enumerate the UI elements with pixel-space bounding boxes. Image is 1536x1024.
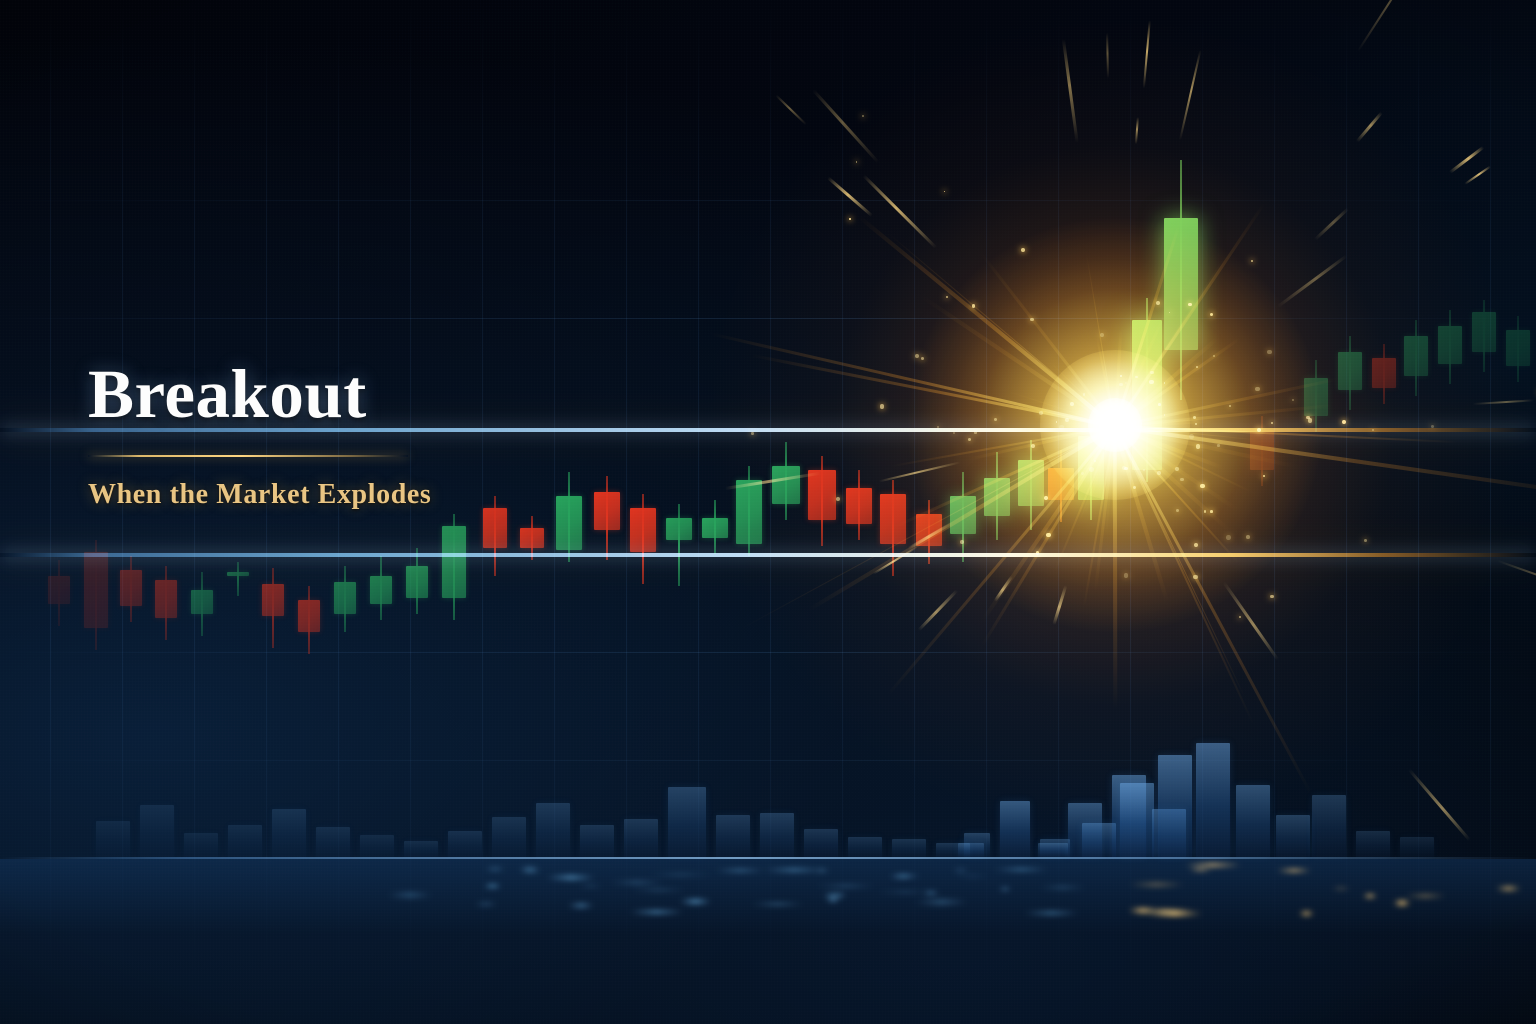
spark-streak <box>1356 111 1383 142</box>
candle-body <box>1132 320 1162 470</box>
spark <box>1189 434 1194 439</box>
candlestick-up <box>666 504 692 586</box>
explosion-ray <box>921 295 1116 428</box>
volume-bar <box>804 829 838 857</box>
spark <box>1210 510 1213 513</box>
spark <box>1176 509 1180 513</box>
spark <box>1193 416 1196 419</box>
spark <box>1431 425 1434 428</box>
candle-body <box>120 570 142 606</box>
grid-line-upper-grid <box>0 318 1536 319</box>
title-divider <box>88 455 408 457</box>
spark <box>1246 535 1250 539</box>
candle-body <box>520 528 544 548</box>
spark <box>1267 350 1271 354</box>
candle-body <box>406 566 428 598</box>
candlestick-down <box>1048 450 1074 522</box>
spark <box>1083 393 1085 395</box>
page-subtitle: When the Market Explodes <box>88 479 608 511</box>
volume-bar <box>272 809 306 857</box>
candlestick-down <box>1250 416 1274 486</box>
candlestick-up <box>1506 316 1530 382</box>
candle-body <box>1372 358 1396 388</box>
explosion-ray <box>1086 254 1116 426</box>
spark-streak <box>1062 39 1078 142</box>
spark <box>1342 420 1346 424</box>
floor-line <box>0 857 1536 859</box>
candlestick-down <box>298 586 320 654</box>
candle-body <box>1438 326 1462 364</box>
spark-streak <box>1407 769 1470 842</box>
candlestick-up <box>702 500 728 554</box>
candle-body <box>808 470 836 520</box>
candle-body <box>984 478 1010 516</box>
explosion-ray <box>1114 425 1223 469</box>
page-title: Breakout <box>88 360 608 429</box>
volume-bar <box>448 831 482 857</box>
floor-sheen <box>0 859 1536 1024</box>
spark <box>1133 486 1136 489</box>
explosion-ray <box>1113 427 1117 709</box>
spark <box>1195 423 1197 425</box>
spark-streak <box>1449 146 1484 174</box>
candlestick-up <box>1304 360 1328 432</box>
volume-bar <box>1312 795 1346 857</box>
candle-body <box>1164 218 1198 350</box>
candlestick-up <box>191 572 213 636</box>
spark <box>1030 318 1033 321</box>
spark <box>862 115 864 117</box>
volume-bar <box>140 805 174 857</box>
spark <box>994 418 997 421</box>
volume-bar <box>668 787 706 857</box>
candlestick-up <box>984 452 1010 540</box>
spark <box>1239 616 1241 618</box>
spark <box>1194 543 1198 547</box>
volume-bar <box>360 835 394 857</box>
spark <box>1180 478 1183 481</box>
explosion-ray <box>857 214 1116 428</box>
spark-streak <box>1465 166 1492 186</box>
candle-body <box>227 572 249 576</box>
spark <box>1059 425 1063 429</box>
explosion-ray <box>1114 426 1116 525</box>
candle-body <box>84 552 108 628</box>
candle-body <box>1250 430 1274 470</box>
spark-streak <box>1179 50 1201 140</box>
candlestick-up <box>1438 310 1462 384</box>
spark <box>751 432 753 434</box>
volume-bar <box>492 817 526 857</box>
candlestick-down <box>808 456 836 546</box>
spark <box>968 438 971 441</box>
explosion-ray <box>887 232 1115 426</box>
candle-body <box>1048 468 1074 500</box>
spark <box>1255 387 1260 392</box>
explosion-ray <box>711 333 1116 428</box>
volume-bar <box>1356 831 1390 857</box>
volume-bar <box>1120 783 1154 857</box>
candlestick-up <box>1404 320 1428 396</box>
spark <box>944 191 946 193</box>
candlestick-down <box>520 516 544 560</box>
candlestick-up <box>1338 336 1362 410</box>
candle-body <box>630 508 656 552</box>
candlestick-down <box>84 540 108 650</box>
candlestick-down <box>1372 344 1396 404</box>
candlestick-up <box>442 514 466 620</box>
candlestick-up <box>950 472 976 562</box>
spark <box>1175 467 1179 471</box>
spark <box>1124 573 1129 578</box>
explosion-ray <box>1050 362 1115 426</box>
grid-line-midline <box>0 652 1536 653</box>
spark <box>1204 510 1206 512</box>
spark <box>1039 411 1043 415</box>
candle-body <box>155 580 177 618</box>
candlestick-down <box>48 560 70 626</box>
spark <box>1070 402 1074 406</box>
spark <box>849 218 851 220</box>
spark-streak <box>827 176 873 217</box>
spark <box>1292 399 1294 401</box>
candlestick-down <box>916 500 942 564</box>
explosion-ray <box>1115 425 1457 444</box>
spark <box>1056 421 1058 423</box>
spark <box>1372 429 1374 431</box>
candlestick-up <box>1472 300 1496 372</box>
spark-streak <box>863 175 937 249</box>
spark <box>915 354 919 358</box>
candlestick-up <box>370 556 392 620</box>
volume-bar <box>892 839 926 857</box>
candlestick-up <box>1018 440 1044 530</box>
spark-streak <box>1106 33 1109 78</box>
spark <box>946 296 948 298</box>
candlestick-down <box>262 568 284 648</box>
spark <box>836 497 840 501</box>
candle-body <box>950 496 976 534</box>
spark-streak <box>994 575 1013 601</box>
candle-body <box>916 514 942 546</box>
candlestick-down <box>880 480 906 576</box>
candlestick-down <box>630 494 656 584</box>
candlestick-up <box>334 566 356 632</box>
explosion-ray <box>751 354 1115 428</box>
spark-streak <box>917 590 958 632</box>
candle-body <box>846 488 872 524</box>
spark <box>1124 467 1128 471</box>
volume-bar <box>1236 785 1270 857</box>
spark <box>1021 248 1025 252</box>
volume-bar <box>1276 815 1310 857</box>
spark <box>937 426 939 428</box>
spark <box>1364 539 1367 542</box>
spark <box>1200 484 1205 489</box>
spark <box>1229 405 1231 407</box>
spark <box>1065 418 1069 422</box>
spark <box>1213 355 1215 357</box>
spark <box>880 404 885 409</box>
spark <box>1196 444 1200 448</box>
volume-bar <box>624 819 658 857</box>
candle-body <box>370 576 392 604</box>
spark <box>1193 575 1198 580</box>
candle-body <box>772 466 800 504</box>
spark <box>856 161 858 163</box>
explosion-ray <box>1111 426 1116 520</box>
spark <box>1210 313 1213 316</box>
candle-body <box>1078 436 1104 500</box>
candle-body <box>736 480 762 544</box>
explosion-ray <box>1115 418 1215 428</box>
candlestick-up <box>406 548 428 614</box>
spark <box>1120 375 1122 377</box>
volume-bar <box>96 821 130 857</box>
candlestick-up <box>772 442 800 520</box>
explosion-ray <box>1114 330 1122 427</box>
volume-bar <box>1400 837 1434 857</box>
candle-body <box>1338 352 1362 390</box>
headline-block: Breakout When the Market Explodes <box>88 360 608 511</box>
candle-body <box>1506 330 1530 366</box>
volume-bar <box>1196 743 1230 857</box>
support-beam <box>0 553 1536 557</box>
candlestick-up <box>1078 420 1104 520</box>
volume-bar <box>1068 803 1102 857</box>
spark <box>953 432 955 434</box>
spark-streak <box>1498 560 1536 591</box>
volume-bar <box>1038 843 1068 857</box>
candlestick-up <box>736 466 762 556</box>
candle-body <box>880 494 906 544</box>
spark-streak <box>1473 400 1534 405</box>
candlestick-down <box>846 470 872 540</box>
spark-streak <box>812 90 879 164</box>
candle-wick <box>237 562 239 596</box>
volume-bar <box>404 841 438 857</box>
spark-streak <box>1357 0 1414 51</box>
spark-streak <box>1223 582 1279 661</box>
candle-body <box>666 518 692 540</box>
candlestick-down <box>120 556 142 622</box>
spark <box>1217 444 1220 447</box>
spark <box>972 304 975 307</box>
volume-bar <box>848 837 882 857</box>
candle-body <box>48 576 70 604</box>
spark <box>1119 383 1122 386</box>
spark-streak <box>1053 585 1068 625</box>
candle-body <box>262 584 284 616</box>
candle-body <box>1018 460 1044 506</box>
spark <box>1125 382 1127 384</box>
explosion-ray <box>1115 425 1536 500</box>
spark <box>1251 260 1253 262</box>
volume-bar <box>958 843 984 857</box>
candlestick-up <box>1132 298 1162 482</box>
spark <box>1100 333 1105 338</box>
candle-wick <box>678 504 680 586</box>
volume-bar <box>536 803 570 857</box>
volume-bar <box>1158 755 1192 857</box>
volume-bar <box>228 825 262 857</box>
spark-streak <box>1143 20 1151 88</box>
grid-line-faint <box>0 200 1536 201</box>
candle-body <box>1404 336 1428 376</box>
volume-bar <box>184 833 218 857</box>
spark-streak <box>775 95 806 125</box>
candle-body <box>442 526 466 598</box>
volume-bar <box>760 813 794 857</box>
spark <box>1226 535 1231 540</box>
spark <box>1270 595 1273 598</box>
candle-body <box>1472 312 1496 352</box>
grid-line-faint <box>0 760 1536 761</box>
candle-body <box>702 518 728 538</box>
volume-bar <box>580 825 614 857</box>
spark-streak <box>1277 254 1347 307</box>
explosion-ray <box>979 251 1116 427</box>
spark-streak <box>1135 117 1139 144</box>
spark <box>974 431 977 434</box>
spark <box>1122 466 1126 470</box>
volume-bar <box>716 815 750 857</box>
volume-bar <box>316 827 350 857</box>
volume-bar <box>1000 801 1030 857</box>
spark <box>1164 414 1166 416</box>
spark-streak <box>1314 207 1348 239</box>
candle-body <box>298 600 320 632</box>
candle-body <box>1304 378 1328 416</box>
candle-body <box>334 582 356 614</box>
spark <box>1046 533 1051 538</box>
spark <box>921 357 924 360</box>
spark <box>1036 551 1040 555</box>
explosion-ray <box>1096 338 1116 427</box>
breakout-poster: Breakout When the Market Explodes <box>0 0 1536 1024</box>
candlestick-up <box>227 562 249 596</box>
candlestick-up <box>1164 160 1198 400</box>
candlestick-down <box>155 566 177 640</box>
candle-body <box>483 508 507 548</box>
explosion-ray <box>1105 426 1117 536</box>
candle-body <box>191 590 213 614</box>
